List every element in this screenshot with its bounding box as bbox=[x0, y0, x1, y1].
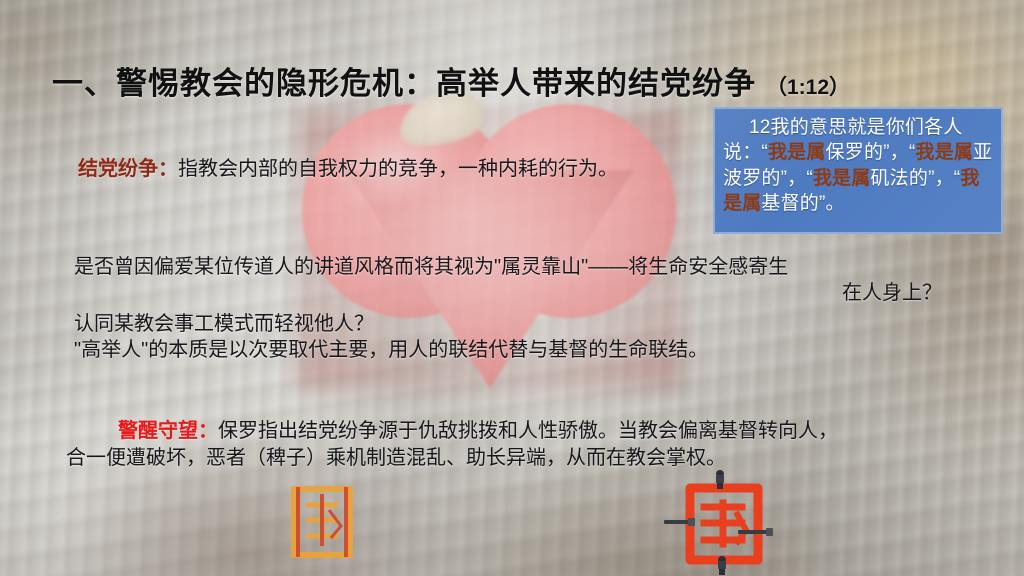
rifle-icon-left bbox=[664, 520, 690, 524]
exhortation-paragraph: 警醒守望：保罗指出结党纷争源于仇敌挑拨和人性骄傲。当教会偏离基督转向人， 合一便… bbox=[66, 418, 966, 472]
quote-line2-prefix: 说：“ bbox=[723, 142, 768, 163]
quote-line1: 12我的意思就是你们各人 bbox=[749, 117, 963, 138]
exhortation-line1: 警醒守望：保罗指出结党纷争源于仇敌挑拨和人性骄傲。当教会偏离基督转向人， bbox=[66, 418, 966, 445]
quote-highlight-apollos-a: 我是 bbox=[915, 142, 953, 163]
slide-canvas: 一、警惕教会的隐形危机：高举人带来的结党纷争（1:12） 12我的意思就是你们各… bbox=[0, 0, 1024, 576]
definition-term: 结党纷争： bbox=[78, 158, 178, 180]
question-paragraph-one: 是否曾因偏爱某位传道人的讲道风格而将其视为"属灵靠山"——将生命安全感寄生 在人… bbox=[74, 254, 942, 306]
exhortation-line2: 合一便遭破坏，恶者（稗子）乘机制造混乱、助长异端，从而在教会掌权。 bbox=[66, 445, 966, 472]
question-paragraph-two-line1: 认同某教会事工模式而轻视他人？ bbox=[74, 313, 374, 335]
quote-line4-tail: 基督的”。 bbox=[761, 193, 844, 214]
exhortation-term: 警醒守望： bbox=[118, 420, 218, 442]
seal-right-glyph bbox=[676, 476, 772, 572]
question-paragraph-one-line1: 是否曾因偏爱某位传道人的讲道风格而将其视为"属灵靠山"——将生命安全感寄生 bbox=[74, 256, 788, 278]
seal-ornament-left bbox=[283, 480, 361, 564]
quote-highlight-apollos-b: 属 bbox=[954, 142, 973, 163]
quote-line2-mid: 保罗的”，“ bbox=[826, 142, 916, 163]
seal-left-glyph bbox=[283, 480, 361, 564]
soldier-legs bbox=[719, 569, 725, 575]
soldier-helmet-icon bbox=[718, 556, 726, 561]
slide-title-main: 一、警惕教会的隐形危机：高举人带来的结党纷争 bbox=[52, 66, 756, 101]
question-paragraph-one-line2: 在人身上？ bbox=[74, 280, 942, 306]
exhortation-line1-rest: 保罗指出结党纷争源于仇敌挑拨和人性骄傲。当教会偏离基督转向人， bbox=[218, 420, 838, 442]
quote-line4-prefix: 的”，“ bbox=[909, 168, 960, 189]
soldier-torso bbox=[716, 475, 724, 483]
definition-line: 结党纷争：指教会内部的自我权力的竞争，一种内耗的行为。 bbox=[78, 156, 618, 182]
soldier-figure-bottom bbox=[716, 556, 728, 575]
question-paragraph-two-line2: "高举人"的本质是以次要取代主要，用人的联结代替与基督的生命联结。 bbox=[74, 337, 954, 363]
soldier-torso bbox=[718, 561, 726, 569]
definition-text: 指教会内部的自我权力的竞争，一种内耗的行为。 bbox=[178, 158, 618, 180]
rifle-icon-right bbox=[738, 530, 768, 534]
slide-title-reference: （1:12） bbox=[766, 76, 850, 99]
quote-highlight-cephas: 我是属 bbox=[813, 168, 871, 189]
seal-ornament-right bbox=[676, 476, 772, 572]
scripture-quote-box: 12我的意思就是你们各人说：“我是属保罗的”，“我是属亚波罗的”，“我是属矶法的… bbox=[713, 107, 1003, 234]
quote-line3-tail: 矶法 bbox=[870, 168, 908, 189]
question-paragraph-two: 认同某教会事工模式而轻视他人？ "高举人"的本质是以次要取代主要，用人的联结代替… bbox=[74, 311, 954, 363]
slide-title: 一、警惕教会的隐形危机：高举人带来的结党纷争（1:12） bbox=[52, 58, 982, 103]
quote-highlight-paul: 我是属 bbox=[768, 142, 826, 163]
soldier-figure-top bbox=[714, 470, 726, 489]
soldier-legs bbox=[717, 483, 723, 489]
